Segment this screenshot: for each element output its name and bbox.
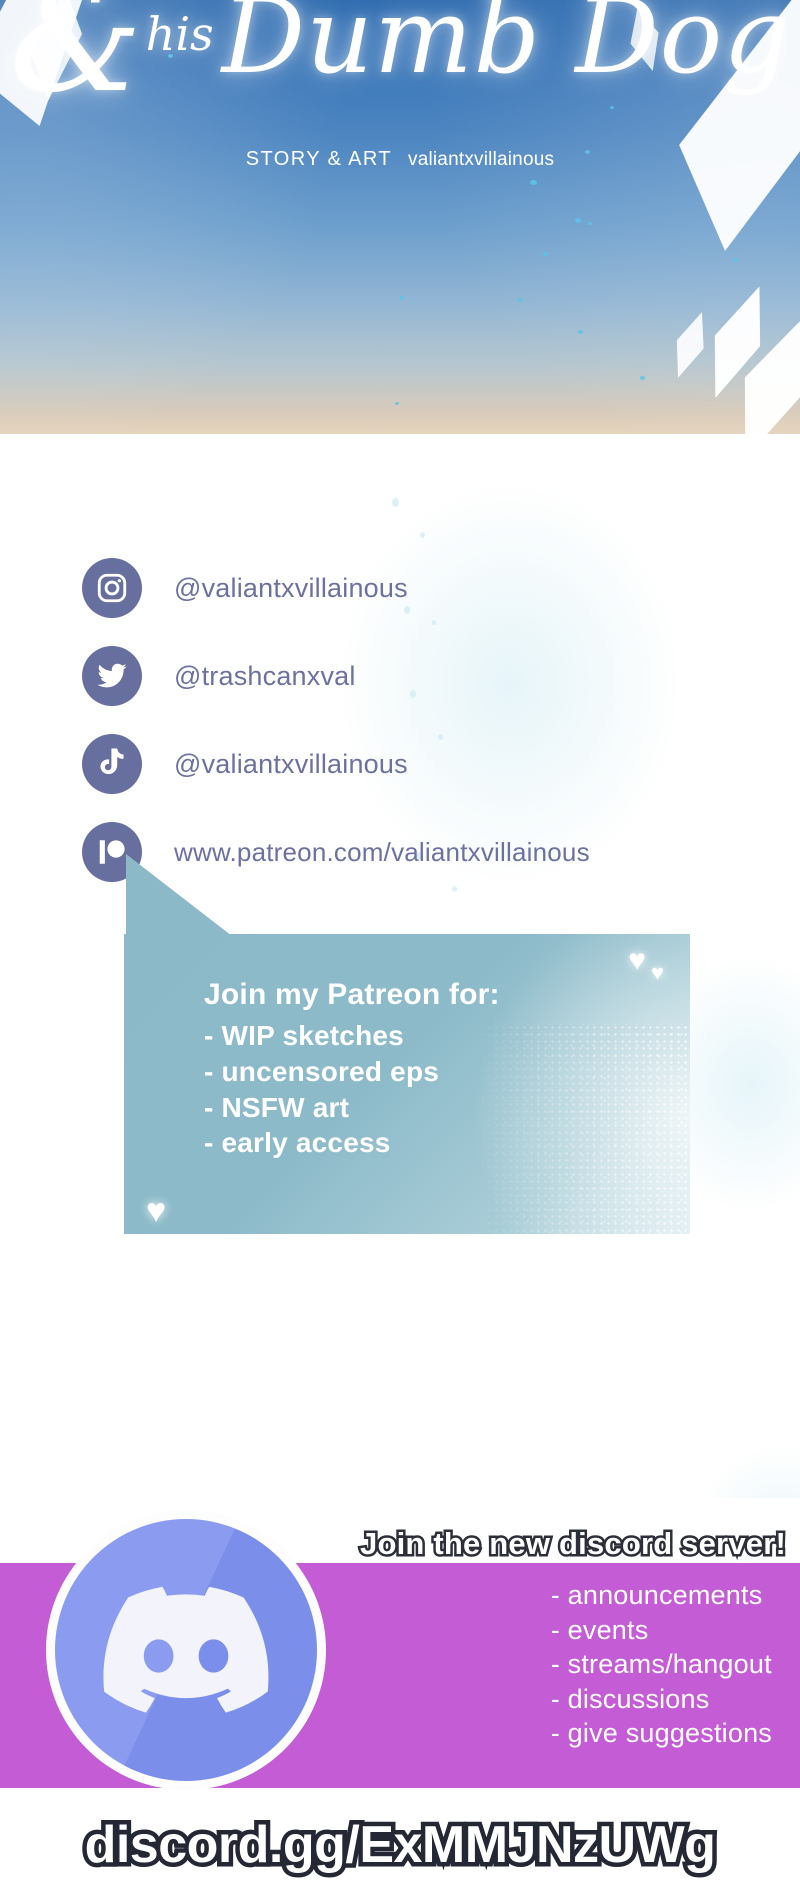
discord-feature-item: - events bbox=[551, 1613, 772, 1648]
discord-feature-list: - announcements - events - streams/hango… bbox=[551, 1578, 772, 1751]
social-link-twitter[interactable]: @trashcanxval bbox=[82, 640, 590, 712]
discord-feature-item: - discussions bbox=[551, 1682, 772, 1717]
patreon-perk-item: - uncensored eps bbox=[204, 1054, 690, 1090]
series-title: &hisDumb Dog bbox=[0, 0, 800, 134]
twitter-icon bbox=[82, 646, 142, 706]
discord-heading: Join the new discord server! bbox=[360, 1526, 786, 1562]
patreon-bubble-content: Join my Patreon for: - WIP sketches - un… bbox=[124, 934, 690, 1161]
social-link-tiktok[interactable]: @valiantxvillainous bbox=[82, 728, 590, 800]
discord-feature-item: - announcements bbox=[551, 1578, 772, 1613]
crystal-shard-icon bbox=[693, 278, 781, 406]
sky-speck bbox=[400, 296, 404, 300]
patreon-speech-bubble: ♥ ♥ ♥ Join my Patreon for: - WIP sketche… bbox=[124, 934, 690, 1234]
social-links-list: @valiantxvillainous @trashcanxval @valia… bbox=[82, 552, 590, 904]
series-title-ampersand: & bbox=[9, 0, 144, 126]
sky-speck bbox=[530, 180, 537, 185]
sky-speck bbox=[518, 298, 523, 302]
patreon-bubble-title: Join my Patreon for: bbox=[204, 978, 690, 1012]
sky-speck bbox=[733, 258, 738, 262]
social-section: @valiantxvillainous @trashcanxval @valia… bbox=[0, 434, 800, 1498]
crystal-shard-icon bbox=[665, 307, 715, 382]
crystal-shard-icon bbox=[713, 294, 800, 434]
discord-logo[interactable] bbox=[46, 1510, 326, 1790]
series-title-main: Dumb Dog bbox=[222, 0, 791, 97]
discord-feature-item: - streams/hangout bbox=[551, 1647, 772, 1682]
patreon-bubble-body: ♥ ♥ ♥ Join my Patreon for: - WIP sketche… bbox=[124, 934, 690, 1234]
credits-author-name: valiantxvillainous bbox=[408, 149, 554, 170]
credits-role-label: STORY & ART bbox=[246, 148, 392, 170]
discord-logo-icon bbox=[55, 1519, 317, 1781]
sky-speck bbox=[578, 330, 583, 334]
patreon-perk-item: - early access bbox=[204, 1125, 690, 1161]
discord-invite-url[interactable]: discord.gg/ExMMJNzUWg bbox=[0, 1815, 800, 1875]
social-handle-instagram: @valiantxvillainous bbox=[174, 573, 408, 604]
sparkle-speck bbox=[392, 498, 399, 507]
sky-speck bbox=[588, 222, 592, 225]
sky-speck bbox=[640, 376, 645, 380]
patreon-perk-item: - WIP sketches bbox=[204, 1018, 690, 1054]
heart-icon: ♥ bbox=[146, 1194, 166, 1228]
sky-speck bbox=[543, 252, 548, 256]
series-title-his: his bbox=[146, 7, 214, 61]
background-glow bbox=[30, 1414, 230, 1498]
instagram-icon bbox=[82, 558, 142, 618]
sky-speck bbox=[395, 402, 399, 405]
discord-promo-section: Join the new discord server! - announcem… bbox=[0, 1498, 800, 1883]
hero-banner: &hisDumb Dog STORY & ARTvaliantxvillaino… bbox=[0, 0, 800, 434]
speech-bubble-tail-icon bbox=[124, 854, 244, 936]
sky-speck bbox=[575, 218, 581, 223]
discord-feature-item: - give suggestions bbox=[551, 1716, 772, 1751]
comic-credits-page: &hisDumb Dog STORY & ARTvaliantxvillaino… bbox=[0, 0, 800, 1883]
social-handle-tiktok: @valiantxvillainous bbox=[174, 749, 408, 780]
tiktok-icon bbox=[82, 734, 142, 794]
credits-line: STORY & ARTvaliantxvillainous bbox=[0, 148, 800, 171]
social-handle-twitter: @trashcanxval bbox=[174, 661, 356, 692]
sparkle-speck bbox=[420, 532, 425, 538]
background-glow bbox=[690, 1444, 800, 1498]
social-link-instagram[interactable]: @valiantxvillainous bbox=[82, 552, 590, 624]
patreon-perk-item: - NSFW art bbox=[204, 1090, 690, 1126]
